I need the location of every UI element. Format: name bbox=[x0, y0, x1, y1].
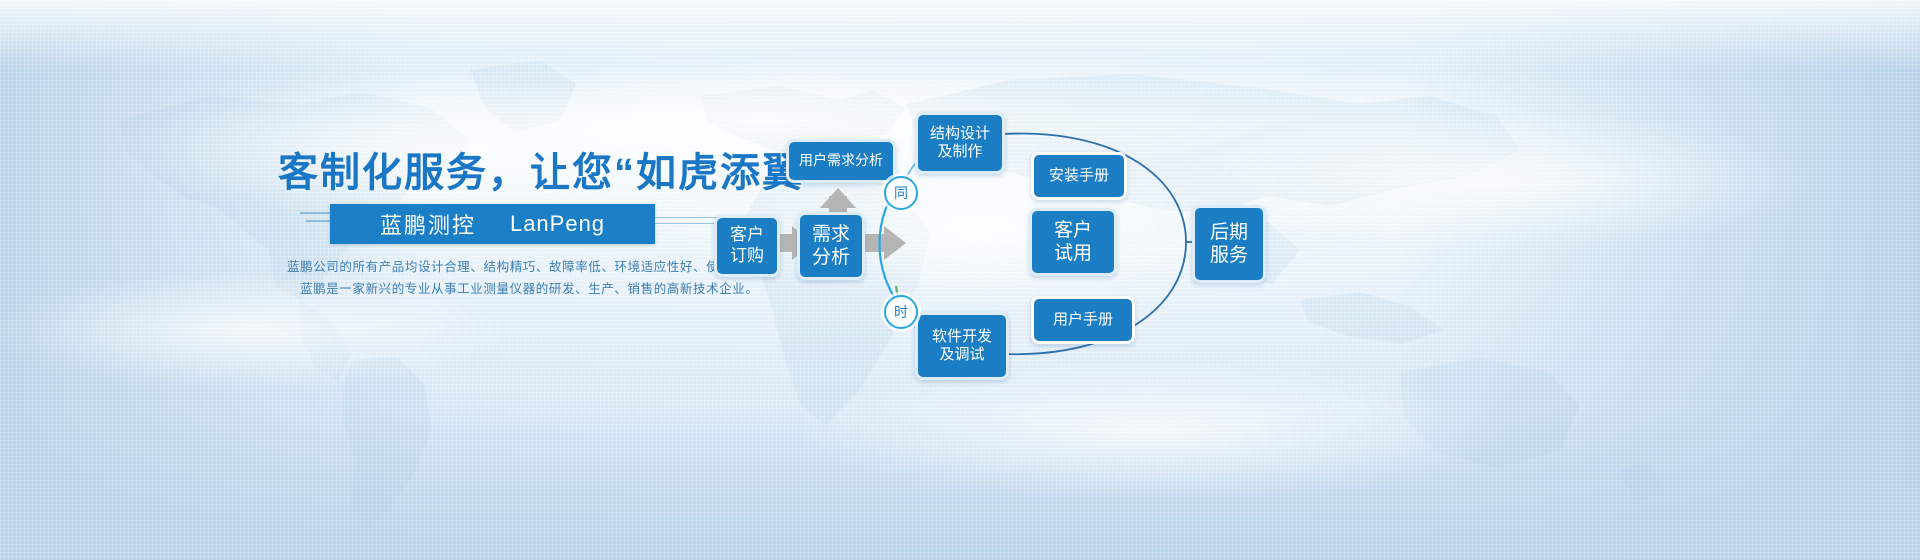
flow-node-customer-order[interactable]: 客户订购 bbox=[714, 215, 780, 277]
flow-node-label: 客户订购 bbox=[730, 225, 764, 266]
badge-tong: 同 bbox=[884, 176, 918, 210]
flow-node-after-service[interactable]: 后期服务 bbox=[1192, 205, 1266, 283]
customized-service-banner: 客制化服务，让您“如虎添翼” 蓝鹏测控 LanPeng 蓝鹏公司的所有产品均设计… bbox=[0, 0, 1920, 560]
flow-node-user-demand-analysis[interactable]: 用户需求分析 bbox=[786, 139, 896, 183]
process-flow-diagram: 用户需求分析 客户订购 需求分析 结构设计及制作 软件开发及调试 安装手册 客户… bbox=[0, 0, 1920, 560]
flow-node-label: 结构设计及制作 bbox=[930, 125, 990, 162]
flow-node-structure-design[interactable]: 结构设计及制作 bbox=[915, 112, 1005, 174]
flow-node-install-manual[interactable]: 安装手册 bbox=[1031, 152, 1127, 200]
flow-node-customer-trial[interactable]: 客户试用 bbox=[1029, 208, 1117, 276]
flow-node-user-manual[interactable]: 用户手册 bbox=[1031, 296, 1135, 344]
badge-label: 时 bbox=[894, 302, 908, 322]
flow-node-label: 软件开发及调试 bbox=[932, 328, 992, 365]
flow-node-label: 后期服务 bbox=[1210, 221, 1248, 267]
flow-node-label: 用户手册 bbox=[1053, 311, 1113, 329]
flow-node-demand-analysis[interactable]: 需求分析 bbox=[797, 212, 865, 280]
flow-node-software-development[interactable]: 软件开发及调试 bbox=[915, 312, 1009, 380]
arrow-demand-to-uda bbox=[820, 188, 856, 212]
arrow-demand-to-cycle bbox=[862, 226, 906, 260]
flow-node-label: 用户需求分析 bbox=[799, 152, 883, 169]
badge-label: 同 bbox=[894, 183, 908, 203]
flow-connectors bbox=[0, 0, 1920, 560]
flow-node-label: 安装手册 bbox=[1049, 167, 1109, 185]
flow-node-label: 需求分析 bbox=[812, 223, 850, 269]
flow-node-label: 客户试用 bbox=[1054, 219, 1092, 265]
badge-shi: 时 bbox=[884, 295, 918, 329]
